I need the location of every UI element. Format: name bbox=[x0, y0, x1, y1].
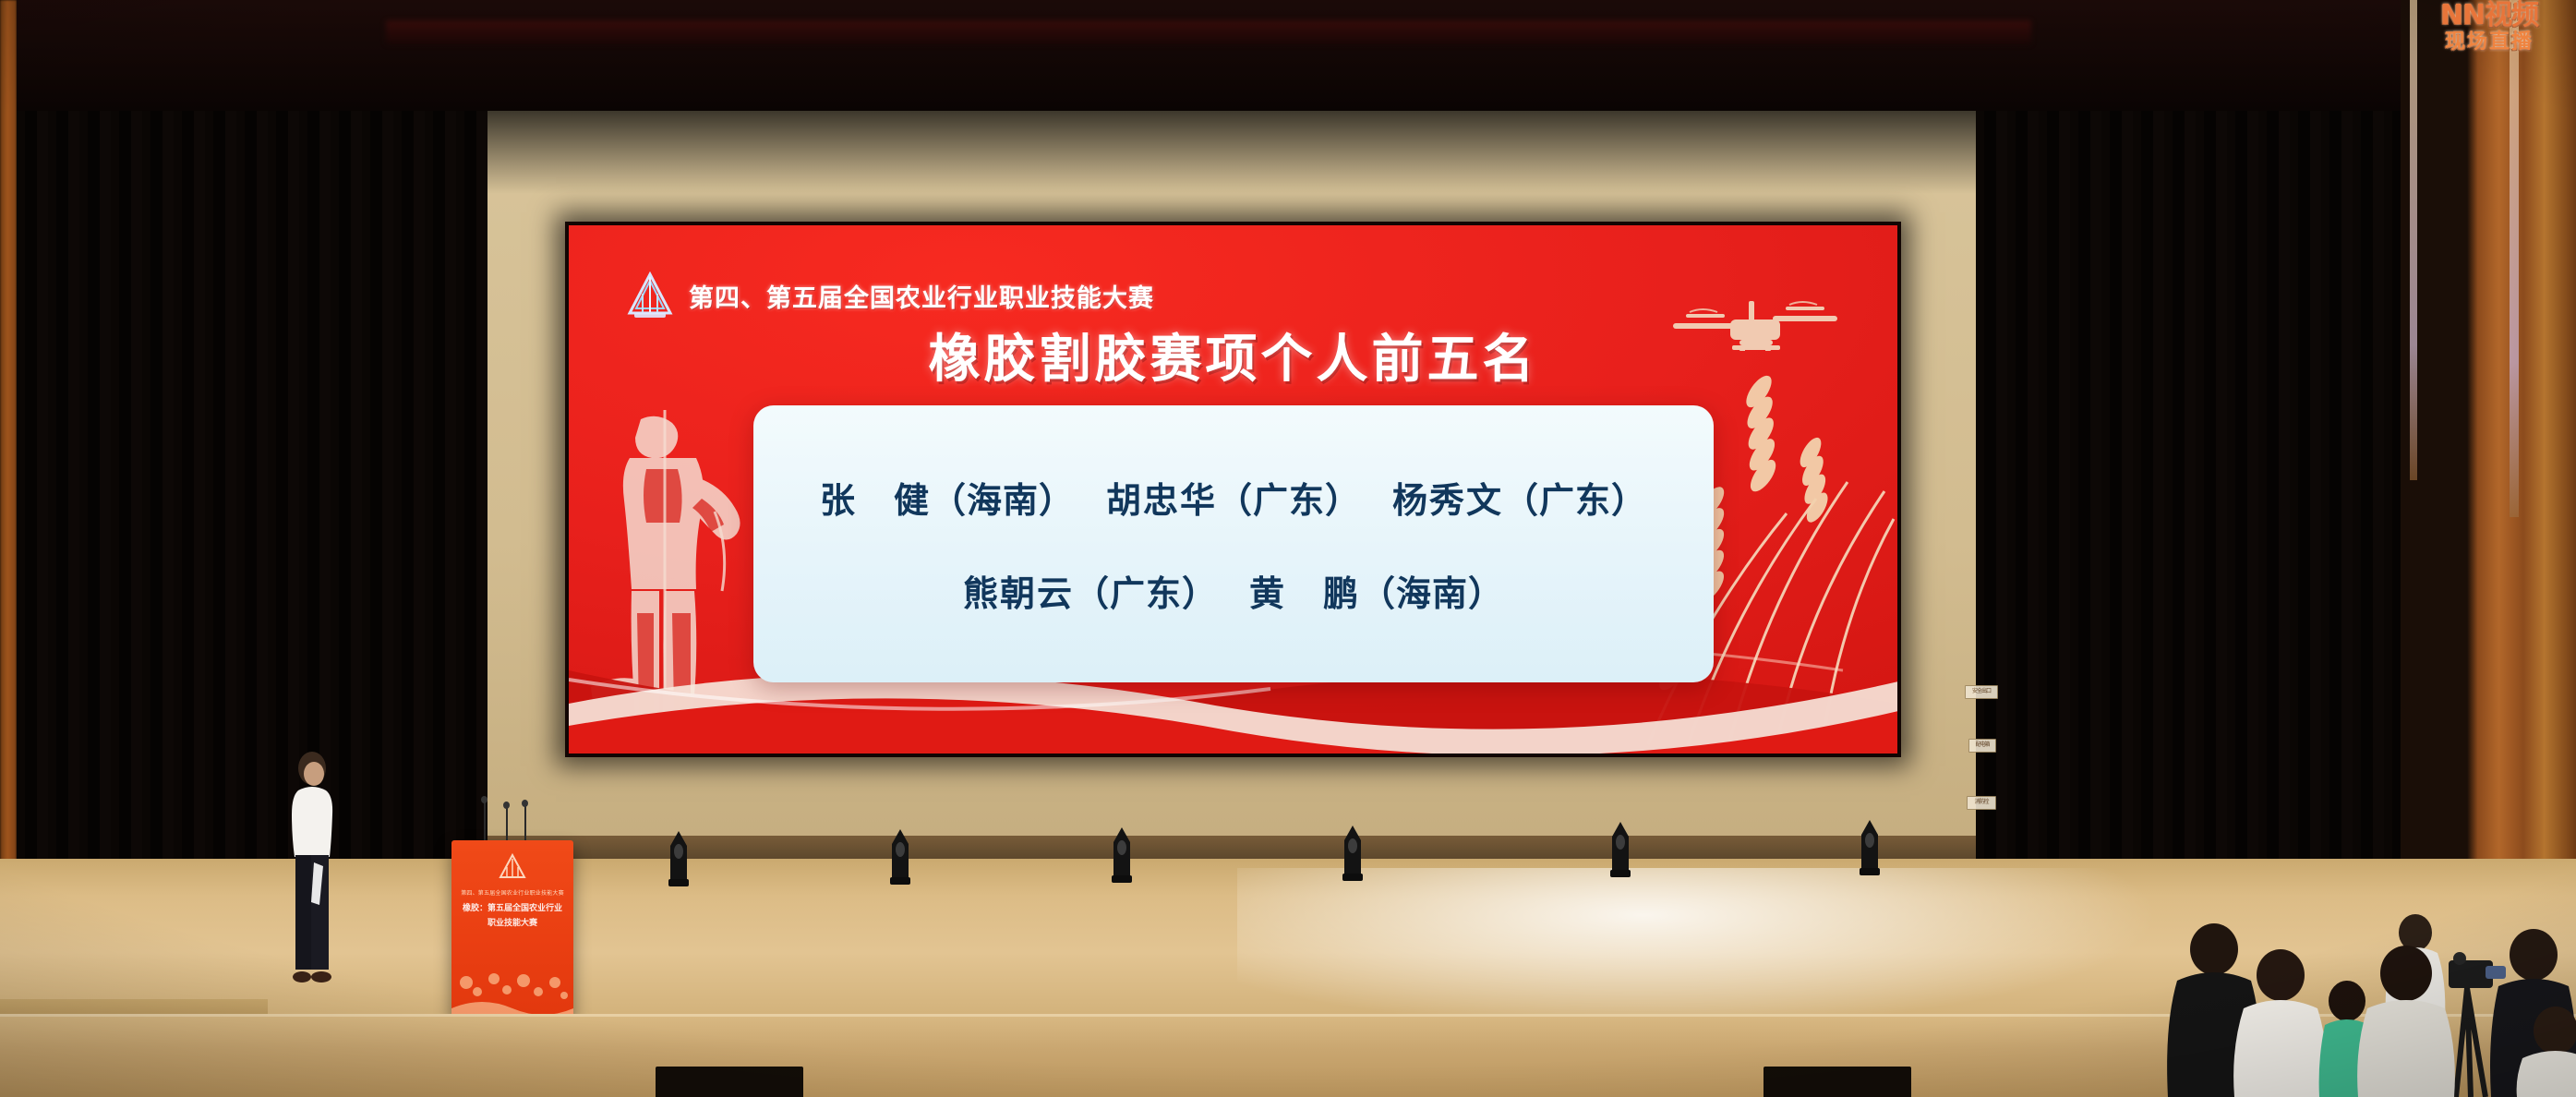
winner-entry: 熊朝云（广东） bbox=[963, 565, 1218, 616]
winner-region: （广东） bbox=[1503, 480, 1647, 521]
winner-name: 杨秀文 bbox=[1392, 480, 1503, 521]
winner-name: 张 健 bbox=[820, 480, 931, 521]
stage-curtain-left bbox=[17, 0, 488, 933]
broadcast-live-label: 现场直播 bbox=[2412, 32, 2567, 53]
audience-and-camera-crew bbox=[2142, 912, 2576, 1097]
microphone-stand bbox=[524, 803, 526, 844]
stage-light bbox=[1854, 820, 1885, 877]
left-wood-panel bbox=[0, 0, 17, 951]
stage-apron-vent bbox=[1763, 1067, 1911, 1097]
wall-sign-hydrant-label: 消防栓 bbox=[1968, 797, 1995, 808]
names-row-2: 熊朝云（广东） 黄 鹏（海南） bbox=[963, 565, 1504, 616]
lectern-floral-pattern bbox=[451, 960, 573, 1018]
broadcast-watermark: NN视频 现场直播 bbox=[2412, 2, 2567, 53]
valance-red-band bbox=[386, 20, 2031, 44]
microphone-stand bbox=[506, 805, 508, 844]
winner-entry: 胡忠华（广东） bbox=[1106, 472, 1361, 523]
wall-sign-exit-label: 安全出口 bbox=[1966, 686, 1997, 697]
stage-light bbox=[1605, 822, 1636, 879]
stage-light bbox=[1337, 826, 1368, 883]
winner-entry: 张 健（海南） bbox=[820, 472, 1075, 523]
back-wall-shadow bbox=[434, 111, 2087, 194]
lectern: 第四、第五届全国农业行业职业技能大赛 橡胶：第五届全国农业行业 职业技能大赛 bbox=[451, 840, 573, 1018]
led-screen-frame: 第四、第五届全国农业行业职业技能大赛 橡胶割胶赛项个人前五名 张 健（海南） 胡… bbox=[565, 222, 1901, 757]
stage-light bbox=[1106, 827, 1138, 885]
winner-region: （广东） bbox=[1074, 573, 1218, 614]
wall-sign-hydrant: 消防栓 bbox=[1967, 796, 1996, 810]
stage-apron-vent bbox=[656, 1067, 803, 1097]
microphone-head bbox=[503, 802, 510, 809]
lectern-line-3: 职业技能大赛 bbox=[457, 916, 568, 928]
microphone-head bbox=[522, 800, 528, 807]
microphone-stand bbox=[484, 800, 486, 844]
right-wood-trim bbox=[2410, 0, 2417, 480]
host-on-stage bbox=[286, 750, 338, 1007]
lectern-line-2: 橡胶：第五届全国农业行业 bbox=[457, 901, 568, 913]
stage-light bbox=[663, 831, 694, 888]
lectern-emblem-icon bbox=[499, 853, 526, 881]
winner-entry: 杨秀文（广东） bbox=[1392, 472, 1647, 523]
winner-region: （海南） bbox=[1360, 573, 1504, 614]
winner-name: 胡忠华 bbox=[1106, 480, 1217, 521]
winner-region: （广东） bbox=[1217, 480, 1361, 521]
lectern-line-1: 第四、第五届全国农业行业职业技能大赛 bbox=[457, 888, 568, 897]
wall-sign-panel-label: 配电箱 bbox=[1969, 740, 1995, 751]
microphone-head bbox=[481, 796, 488, 803]
wall-sign-exit: 安全出口 bbox=[1965, 685, 1998, 699]
wall-sign-panel: 配电箱 bbox=[1968, 739, 1996, 753]
award-slide: 第四、第五届全国农业行业职业技能大赛 橡胶割胶赛项个人前五名 张 健（海南） 胡… bbox=[569, 225, 1897, 753]
event-name: 第四、第五届全国农业行业职业技能大赛 bbox=[689, 278, 1154, 314]
stage-light bbox=[885, 829, 916, 886]
broadcast-brand: NN视频 bbox=[2412, 2, 2567, 30]
winner-name: 黄 鹏 bbox=[1249, 573, 1360, 614]
slide-title: 橡胶割胶赛项个人前五名 bbox=[569, 318, 1897, 392]
names-row-1: 张 健（海南） 胡忠华（广东） 杨秀文（广东） bbox=[820, 472, 1647, 523]
stage-curtain-valance bbox=[17, 0, 2401, 111]
winner-name: 熊朝云 bbox=[963, 573, 1074, 614]
slide-header: 第四、第五届全国农业行业职业技能大赛 bbox=[626, 271, 1154, 319]
competition-emblem-icon bbox=[626, 271, 674, 319]
winner-entry: 黄 鹏（海南） bbox=[1249, 565, 1504, 616]
stage-curtain-right bbox=[1976, 0, 2401, 933]
winner-region: （海南） bbox=[931, 480, 1075, 521]
results-panel: 张 健（海南） 胡忠华（广东） 杨秀文（广东） 熊朝云（广东） 黄 鹏（海南） bbox=[753, 405, 1714, 682]
stage-broadcast-scene: 安全出口 配电箱 消防栓 bbox=[0, 0, 2576, 1097]
